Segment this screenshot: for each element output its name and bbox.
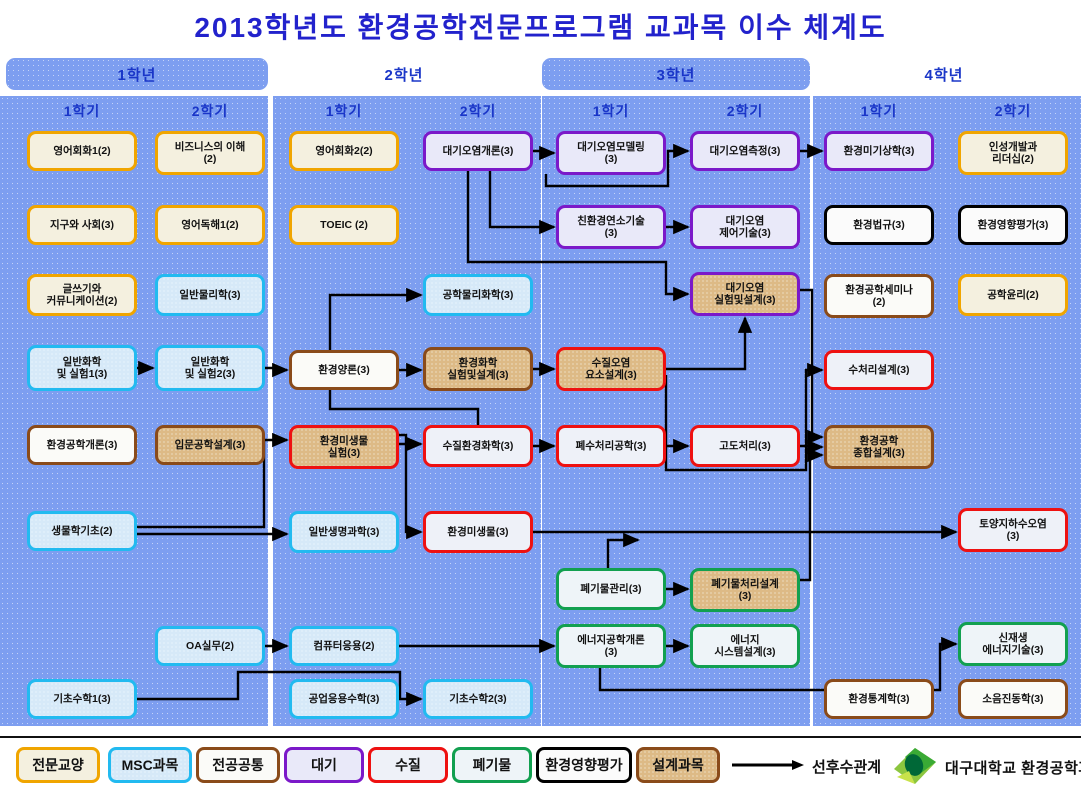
course-box-c11[interactable]: 일반화학 및 실험2(3) — [155, 345, 265, 391]
course-label: 환경법규(3) — [853, 219, 904, 231]
course-box-c22[interactable]: 공학물리화학(3) — [423, 274, 533, 316]
course-box-c32[interactable]: 에너지공학개론 (3) — [556, 624, 666, 668]
course-label: 공업응용수학(3) — [309, 693, 380, 705]
course-box-c25[interactable]: 환경미생물(3) — [423, 511, 533, 553]
course-label: 폐수처리공학(3) — [576, 440, 647, 452]
course-label: 수질환경화학(3) — [443, 440, 514, 452]
course-box-c2[interactable]: 지구와 사회(3) — [27, 205, 137, 245]
course-box-c10[interactable]: 일반물리학(3) — [155, 274, 265, 316]
course-label: 환경양론(3) — [318, 364, 369, 376]
course-label: 생물학기초(2) — [51, 525, 112, 537]
course-box-c29[interactable]: 수질오염 요소설계(3) — [556, 347, 666, 391]
course-label: 환경공학세미나 (2) — [845, 284, 913, 309]
course-box-c28[interactable]: 친환경연소기술 (3) — [556, 205, 666, 249]
course-label: 환경공학 종합설계(3) — [853, 435, 904, 460]
course-label: 영어회화2(2) — [315, 145, 372, 157]
course-label: TOEIC (2) — [320, 219, 368, 231]
course-box-c18[interactable]: 일반생명과학(3) — [289, 511, 399, 553]
course-label: 환경통계학(3) — [848, 693, 909, 705]
course-box-c36[interactable]: 고도처리(3) — [690, 425, 800, 467]
course-box-c20[interactable]: 공업응용수학(3) — [289, 679, 399, 719]
course-box-c15[interactable]: TOEIC (2) — [289, 205, 399, 245]
course-label: 공학윤리(2) — [987, 289, 1038, 301]
course-label: 신재생 에너지기술(3) — [982, 632, 1043, 657]
course-label: 영어회화1(2) — [53, 145, 110, 157]
course-box-c26[interactable]: 기초수학2(3) — [423, 679, 533, 719]
course-box-c6[interactable]: 생물학기초(2) — [27, 511, 137, 551]
course-box-c12[interactable]: 입문공학설계(3) — [155, 425, 265, 465]
prerequisite-connectors — [0, 0, 1081, 794]
course-box-c14[interactable]: 영어회화2(2) — [289, 131, 399, 171]
course-label: 인성개발과 리더십(2) — [989, 141, 1037, 166]
course-box-c23[interactable]: 환경화학 실험및설계(3) — [423, 347, 533, 391]
course-label: 대기오염 제어기술(3) — [719, 215, 770, 240]
course-label: 수처리설계(3) — [848, 364, 909, 376]
course-label: 컴퓨터응용(2) — [313, 640, 374, 652]
course-box-c27[interactable]: 대기오염모델링 (3) — [556, 131, 666, 175]
course-box-c44[interactable]: 환경통계학(3) — [824, 679, 934, 719]
course-label: 일반물리학(3) — [179, 289, 240, 301]
course-box-c8[interactable]: 비즈니스의 이해 (2) — [155, 131, 265, 175]
course-box-c49[interactable]: 신재생 에너지기술(3) — [958, 622, 1068, 666]
course-box-c40[interactable]: 환경법규(3) — [824, 205, 934, 245]
course-box-c41[interactable]: 환경공학세미나 (2) — [824, 274, 934, 318]
course-box-c47[interactable]: 공학윤리(2) — [958, 274, 1068, 316]
course-box-c46[interactable]: 환경영향평가(3) — [958, 205, 1068, 245]
course-label: 기초수학1(3) — [53, 693, 110, 705]
course-box-c35[interactable]: 대기오염 실험및설계(3) — [690, 272, 800, 316]
course-box-c43[interactable]: 환경공학 종합설계(3) — [824, 425, 934, 469]
course-box-c19[interactable]: 컴퓨터응용(2) — [289, 626, 399, 666]
course-label: 환경미생물(3) — [447, 526, 508, 538]
course-label: 소음진동학(3) — [982, 693, 1043, 705]
course-box-c17[interactable]: 환경미생물 실험(3) — [289, 425, 399, 469]
course-box-c7[interactable]: 기초수학1(3) — [27, 679, 137, 719]
course-box-c34[interactable]: 대기오염 제어기술(3) — [690, 205, 800, 249]
course-label: 환경미기상학(3) — [844, 145, 915, 157]
course-label: 공학물리화학(3) — [443, 289, 514, 301]
course-label: 폐기물관리(3) — [580, 583, 641, 595]
course-label: 글쓰기와 커뮤니케이션(2) — [47, 283, 118, 308]
course-box-c45[interactable]: 인성개발과 리더십(2) — [958, 131, 1068, 175]
course-box-c16[interactable]: 환경양론(3) — [289, 350, 399, 390]
course-box-c30[interactable]: 폐수처리공학(3) — [556, 425, 666, 467]
course-label: 대기오염측정(3) — [710, 145, 781, 157]
course-box-c13[interactable]: OA실무(2) — [155, 626, 265, 666]
course-box-c21[interactable]: 대기오염개론(3) — [423, 131, 533, 171]
course-label: 일반화학 및 실험2(3) — [185, 356, 236, 381]
course-box-c5[interactable]: 환경공학개론(3) — [27, 425, 137, 465]
course-label: OA실무(2) — [186, 640, 234, 652]
course-label: 수질오염 요소설계(3) — [585, 357, 636, 382]
course-label: 고도처리(3) — [719, 440, 770, 452]
course-label: 환경영향평가(3) — [978, 219, 1049, 231]
course-label: 대기오염 실험및설계(3) — [714, 282, 775, 307]
course-label: 폐기물처리설계 (3) — [711, 578, 779, 603]
course-box-c4[interactable]: 일반화학 및 실험1(3) — [27, 345, 137, 391]
course-label: 대기오염모델링 (3) — [577, 141, 645, 166]
course-box-c3[interactable]: 글쓰기와 커뮤니케이션(2) — [27, 274, 137, 316]
course-label: 입문공학설계(3) — [175, 439, 246, 451]
course-label: 환경공학개론(3) — [47, 439, 118, 451]
course-label: 토양지하수오염 (3) — [979, 518, 1047, 543]
course-label: 환경화학 실험및설계(3) — [447, 357, 508, 382]
course-label: 영어독해1(2) — [181, 219, 238, 231]
course-box-c37[interactable]: 폐기물처리설계 (3) — [690, 568, 800, 612]
course-box-c50[interactable]: 소음진동학(3) — [958, 679, 1068, 719]
course-label: 일반화학 및 실험1(3) — [57, 356, 108, 381]
course-box-c1[interactable]: 영어회화1(2) — [27, 131, 137, 171]
course-box-c48[interactable]: 토양지하수오염 (3) — [958, 508, 1068, 552]
course-box-c42[interactable]: 수처리설계(3) — [824, 350, 934, 390]
course-label: 기초수학2(3) — [449, 693, 506, 705]
course-label: 에너지공학개론 (3) — [577, 634, 645, 659]
course-box-c24[interactable]: 수질환경화학(3) — [423, 425, 533, 467]
course-label: 비즈니스의 이해 (2) — [175, 141, 246, 166]
course-label: 지구와 사회(3) — [50, 219, 114, 231]
course-box-c9[interactable]: 영어독해1(2) — [155, 205, 265, 245]
course-label: 대기오염개론(3) — [443, 145, 514, 157]
course-label: 일반생명과학(3) — [309, 526, 380, 538]
course-label: 환경미생물 실험(3) — [320, 435, 368, 460]
course-box-c33[interactable]: 대기오염측정(3) — [690, 131, 800, 171]
course-box-c38[interactable]: 에너지 시스템설계(3) — [690, 624, 800, 668]
course-box-c39[interactable]: 환경미기상학(3) — [824, 131, 934, 171]
course-label: 에너지 시스템설계(3) — [714, 634, 775, 659]
course-box-c31[interactable]: 폐기물관리(3) — [556, 568, 666, 610]
course-label: 친환경연소기술 (3) — [577, 215, 645, 240]
